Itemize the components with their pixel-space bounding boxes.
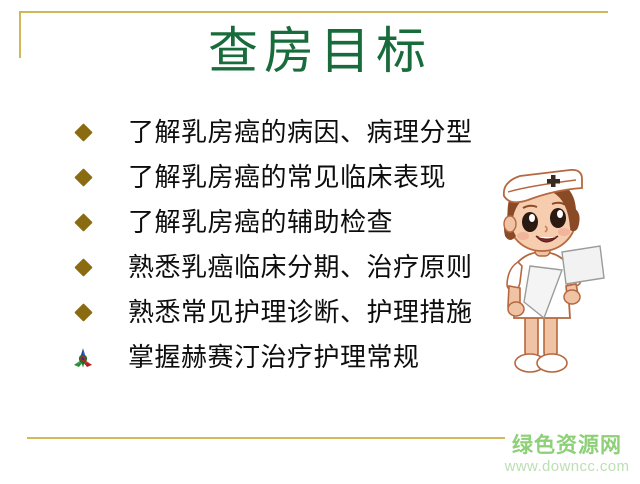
list-item: 掌握赫赛汀治疗护理常规 [72,335,472,380]
diamond-bullet-icon [72,257,94,279]
list-item-label: 了解乳房癌的常见临床表现 [128,163,446,193]
watermark: 绿色资源网 www.downcc.com [498,434,636,476]
compass-star-icon [72,345,94,371]
list-item-label: 了解乳房癌的辅助检查 [128,208,393,238]
diamond-bullet-icon [72,212,94,234]
watermark-site-name: 绿色资源网 [498,434,636,458]
diamond-bullet-icon [72,167,94,189]
slide-title: 查房目标 [0,22,640,80]
bullet-list: 了解乳房癌的病因、病理分型 了解乳房癌的常见临床表现 了解乳房癌的辅助检查 熟悉… [72,110,472,380]
frame-top-line [19,11,608,13]
list-item: 了解乳房癌的病因、病理分型 [72,110,472,155]
list-item: 熟悉乳癌临床分期、治疗原则 [72,245,472,290]
watermark-url: www.downcc.com [498,458,636,476]
list-item: 了解乳房癌的常见临床表现 [72,155,472,200]
frame-bottom-line [27,437,505,439]
diamond-bullet-icon [72,302,94,324]
cartoon-nurse-illustration [478,166,606,381]
diamond-bullet-icon [72,122,94,144]
presentation-slide: 查房目标 了解乳房癌的病因、病理分型 了解乳房癌的常见临床表现 了解乳房癌的辅助… [0,0,640,484]
list-item-label: 熟悉常见护理诊断、护理措施 [128,298,473,328]
list-item-label: 了解乳房癌的病因、病理分型 [128,118,473,148]
list-item-label: 熟悉乳癌临床分期、治疗原则 [128,253,473,283]
list-item-label: 掌握赫赛汀治疗护理常规 [128,343,420,373]
list-item: 熟悉常见护理诊断、护理措施 [72,290,472,335]
list-item: 了解乳房癌的辅助检查 [72,200,472,245]
compass-star-bullet-icon [72,347,94,369]
